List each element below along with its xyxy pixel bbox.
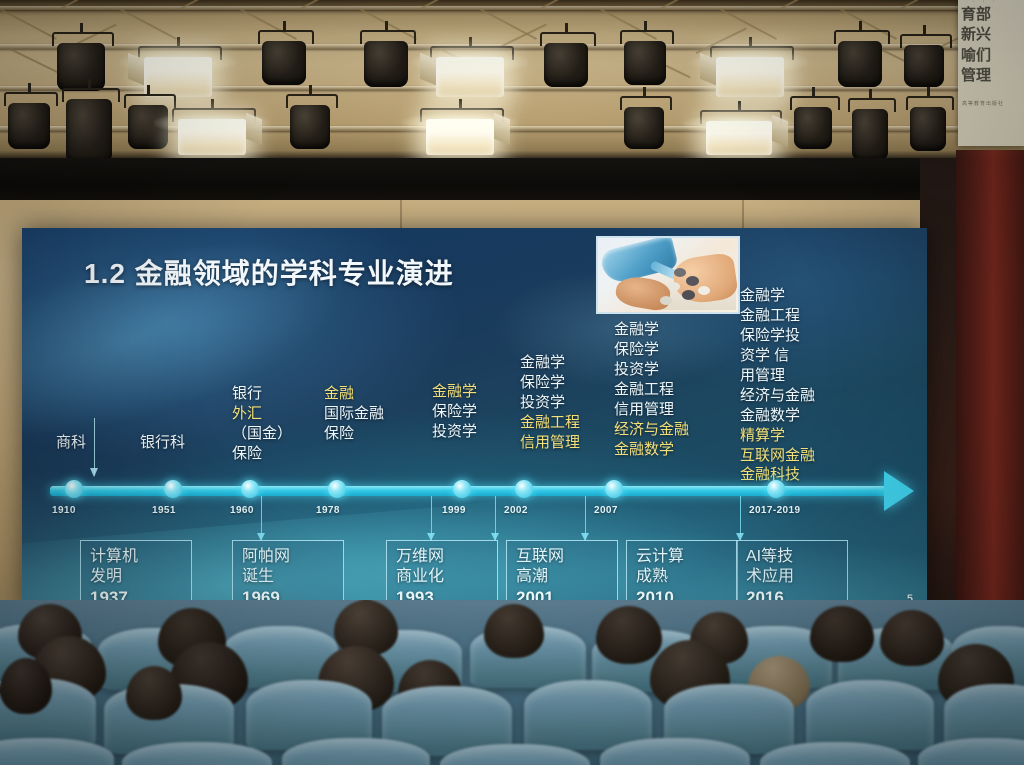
era-1951-item-0: 银行科 xyxy=(140,433,185,453)
ceiling-truss-area xyxy=(0,0,1024,160)
event-1937-line1: 计算机 xyxy=(90,547,182,567)
timeline-node-1960 xyxy=(241,480,259,498)
screen2-footer: 高等教育出版社 xyxy=(958,100,1024,107)
stage-light-off xyxy=(790,96,836,138)
timeline-node-1951 xyxy=(164,480,182,498)
red-curtain xyxy=(956,150,1024,650)
era-2007-item-0: 金融学 xyxy=(614,320,689,340)
event-2001-line1: 互联网 xyxy=(516,547,608,567)
era-2002-item-0: 金融学 xyxy=(520,353,580,373)
stage-light-off xyxy=(906,96,950,140)
era-2017-2019: 金融学 金融工程 保险学投 资学 信 用管理 经济与金融 金融数学 精算学 互联… xyxy=(740,286,815,485)
audience-head xyxy=(810,606,874,662)
stage-light-off xyxy=(286,94,334,138)
connector-2001 xyxy=(495,524,496,540)
era-2007-item-4: 信用管理 xyxy=(614,400,689,420)
down-arrow-icon xyxy=(94,418,95,476)
era-2017-item-1: 金融工程 xyxy=(740,306,815,326)
stage-light-off xyxy=(258,30,310,74)
timeline-node-2002 xyxy=(515,480,533,498)
event-2010-line2: 成熟 xyxy=(636,567,728,587)
tick-label-2007: 2007 xyxy=(594,505,618,516)
era-2007-item-2: 投资学 xyxy=(614,360,689,380)
era-1978: 金融 国际金融 保险 xyxy=(324,384,384,444)
era-2017-item-6: 金融数学 xyxy=(740,406,815,426)
timeline-node-1910 xyxy=(65,480,83,498)
tick-label-1960: 1960 xyxy=(230,505,254,516)
lecture-hall-photo: · · · 育部 新兴 喻们 管理 高等教育出版社 1.2 金融领域的学科专业演… xyxy=(0,0,1024,765)
era-2017-item-7: 精算学 xyxy=(740,426,815,446)
era-1960-item-1: 外汇 xyxy=(232,404,292,424)
era-2017-item-4: 用管理 xyxy=(740,366,815,386)
era-1960-item-3: 保险 xyxy=(232,444,292,464)
connector-2010 xyxy=(585,524,586,540)
stage-light-on xyxy=(420,108,500,144)
secondary-projection-screen: · · · 育部 新兴 喻们 管理 高等教育出版社 xyxy=(958,0,1024,146)
era-2007-item-5: 经济与金融 xyxy=(614,420,689,440)
stage-light-off xyxy=(620,30,670,74)
era-2002-item-4: 信用管理 xyxy=(520,433,580,453)
tick-label-1978: 1978 xyxy=(316,505,340,516)
stage-light-off xyxy=(834,30,886,76)
era-2007-item-6: 金融数学 xyxy=(614,440,689,460)
connector-1969 xyxy=(261,524,262,540)
event-1993-line2: 商业化 xyxy=(396,567,488,587)
era-1999-item-2: 投资学 xyxy=(432,422,477,442)
era-2017-item-5: 经济与金融 xyxy=(740,386,815,406)
audience-head xyxy=(484,604,544,658)
era-2002-item-3: 金融工程 xyxy=(520,413,580,433)
era-2017-item-3: 资学 信 xyxy=(740,346,815,366)
era-2017-item-8: 互联网金融 xyxy=(740,446,815,466)
stage-light-off xyxy=(52,32,110,80)
era-1999-item-0: 金融学 xyxy=(432,382,477,402)
audience-head xyxy=(126,666,182,720)
stage-light-off xyxy=(62,88,116,152)
event-1969-line1: 阿帕网 xyxy=(242,547,334,567)
screen2-line-4: 管理 xyxy=(958,66,1024,86)
era-1999-item-1: 保险学 xyxy=(432,402,477,422)
inset-photo-go-game xyxy=(596,236,740,314)
screen2-line-2: 新兴 xyxy=(958,25,1024,45)
event-1969-line2: 诞生 xyxy=(242,567,334,587)
timeline-node-2007 xyxy=(605,480,623,498)
event-1937-line2: 发明 xyxy=(90,567,182,587)
stage-light-on xyxy=(138,46,218,86)
event-1993-line1: 万维网 xyxy=(396,547,488,567)
era-1910: 商科 xyxy=(56,433,86,453)
slide-title: 1.2 金融领域的学科专业演进 xyxy=(84,252,454,292)
timeline-node-1978 xyxy=(328,480,346,498)
tick-label-2017-2019: 2017-2019 xyxy=(749,505,800,516)
stage-light-off xyxy=(848,98,892,150)
era-1960-item-2: （国金） xyxy=(232,424,292,444)
timeline-node-1999 xyxy=(453,480,471,498)
event-2016-line1: AI等技 xyxy=(746,547,838,567)
era-2007-item-3: 金融工程 xyxy=(614,380,689,400)
era-1960-item-0: 银行 xyxy=(232,384,292,404)
timeline-node-2017 xyxy=(767,480,785,498)
stage-light-off xyxy=(540,32,592,76)
timeline-arrow-icon xyxy=(884,471,914,511)
era-1951: 银行科 xyxy=(140,433,185,453)
stage-light-off xyxy=(360,30,412,76)
audience-seating xyxy=(0,600,1024,765)
stage-light-on xyxy=(172,108,252,144)
era-1978-item-2: 保险 xyxy=(324,424,384,444)
audience-head xyxy=(596,606,662,664)
event-2010-line1: 云计算 xyxy=(636,547,728,567)
stage-light-on xyxy=(430,46,510,86)
era-1960: 银行 外汇 （国金） 保险 xyxy=(232,384,292,464)
screen2-line-3: 喻们 xyxy=(958,46,1024,66)
era-2002: 金融学 保险学 投资学 金融工程 信用管理 xyxy=(520,353,580,453)
era-2002-item-2: 投资学 xyxy=(520,393,580,413)
stage-light-on xyxy=(700,110,778,144)
screen2-line-1: 育部 xyxy=(958,5,1024,25)
tick-label-1951: 1951 xyxy=(152,505,176,516)
event-2001-line2: 高潮 xyxy=(516,567,608,587)
era-2007-item-1: 保险学 xyxy=(614,340,689,360)
stage-light-on xyxy=(710,46,790,86)
era-1978-item-0: 金融 xyxy=(324,384,384,404)
stage-light-off xyxy=(4,92,54,138)
era-2007: 金融学 保险学 投资学 金融工程 信用管理 经济与金融 金融数学 xyxy=(614,320,689,460)
era-2017-item-2: 保险学投 xyxy=(740,326,815,346)
stage-light-off xyxy=(900,34,948,76)
era-2002-item-1: 保险学 xyxy=(520,373,580,393)
event-2016-line2: 术应用 xyxy=(746,567,838,587)
tick-label-1910: 1910 xyxy=(52,505,76,516)
connector-1993 xyxy=(431,524,432,540)
stage-light-off xyxy=(620,96,668,138)
era-1999: 金融学 保险学 投资学 xyxy=(432,382,477,442)
era-1910-item-0: 商科 xyxy=(56,433,86,453)
era-1978-item-1: 国际金融 xyxy=(324,404,384,424)
tick-label-1999: 1999 xyxy=(442,505,466,516)
era-2017-item-0: 金融学 xyxy=(740,286,815,306)
audience-head xyxy=(880,610,944,666)
connector-2016 xyxy=(740,524,741,540)
audience-head xyxy=(0,658,52,714)
projected-slide: 1.2 金融领域的学科专业演进 商科 银行科 银行 外汇 （国金） xyxy=(22,228,927,613)
tick-label-2002: 2002 xyxy=(504,505,528,516)
